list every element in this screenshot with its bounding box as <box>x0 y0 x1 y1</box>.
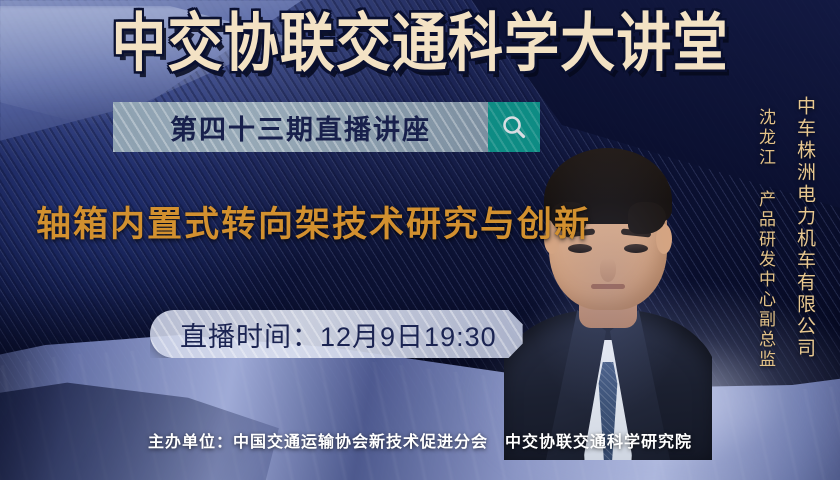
episode-banner: 第四十三期直播讲座 <box>113 102 540 152</box>
search-icon <box>500 113 528 141</box>
speaker-name-title: 沈龙江 产品研发中心副总监 <box>753 108 778 370</box>
speaker-company: 中车株洲电力机车有限公司 <box>791 96 818 360</box>
schedule-badge: 直播时间：12月9日19:30 <box>150 310 523 358</box>
page-title: 中交协联交通科学大讲堂 <box>0 12 840 76</box>
livestream-poster: 中交协联交通科学大讲堂 第四十三期直播讲座 轴箱内置式转向架技术研究与创新 直播… <box>0 0 840 480</box>
speaker-portrait <box>504 102 712 460</box>
search-icon-box[interactable] <box>488 102 540 152</box>
portrait-nose <box>600 258 616 282</box>
episode-label: 第四十三期直播讲座 <box>170 108 431 147</box>
episode-banner-body: 第四十三期直播讲座 <box>113 102 488 152</box>
organizers-footer: 主办单位：中国交通运输协会新技术促进分会 中交协联交通科学研究院 <box>0 428 840 452</box>
portrait-mouth <box>591 284 625 289</box>
portrait-eye-right <box>624 244 648 253</box>
lecture-topic: 轴箱内置式转向架技术研究与创新 <box>36 196 591 247</box>
schedule-label: 直播时间：12月9日19:30 <box>180 315 497 354</box>
